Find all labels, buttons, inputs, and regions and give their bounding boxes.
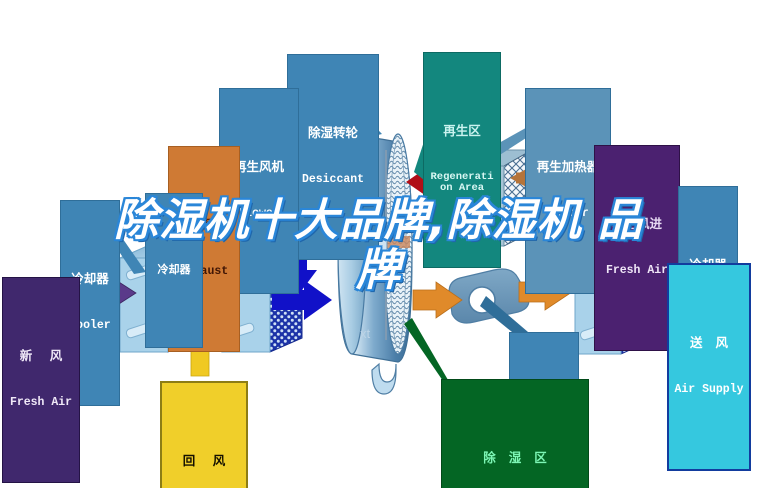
dehumidifier-diagram: xt 除湿转轮 Desiccant 再生风机 Blower 再生风出 Exhau… (0, 0, 757, 488)
callout-back-wind-cn: 回 风 (167, 454, 241, 468)
callout-dehum-district-cn: 除 湿 区 (447, 451, 583, 465)
callout-fresh-air-left-cn: 新 风 (8, 349, 74, 363)
callout-regen-area: 再生区 Regenerati on Area (423, 52, 501, 268)
callout-regen-area-cn: 再生区 (429, 124, 495, 138)
callout-fresh-air-left: 新 风 Fresh Air (2, 277, 80, 483)
callout-air-supply-en: Air Supply (674, 384, 744, 396)
callout-dehum-district: 除 湿 区 Dehumidification District (441, 379, 589, 488)
leader-dehum-blower (480, 296, 528, 332)
callout-back-wind: 回 风 Back wind (160, 381, 248, 488)
callout-fresh-air-left-en: Fresh Air (8, 397, 74, 409)
callout-air-supply-cn: 送 风 (674, 336, 744, 350)
callout-desiccant-en: Desiccant (293, 174, 373, 186)
callout-fresh-air-regen-cn: 再生风进 (600, 217, 674, 231)
callout-desiccant-cn: 除湿转轮 (293, 126, 373, 140)
callout-cooler-left-2-cn: 冷却器 (150, 264, 198, 276)
callout-fresh-air-regen-en: Fresh Air (600, 265, 674, 277)
callout-cooler-left-2: 冷却器 (145, 193, 203, 348)
callout-desiccant: 除湿转轮 Desiccant (287, 54, 379, 260)
callout-air-supply: 送 风 Air Supply (667, 263, 751, 471)
callout-regen-area-en: Regenerati on Area (429, 172, 495, 195)
